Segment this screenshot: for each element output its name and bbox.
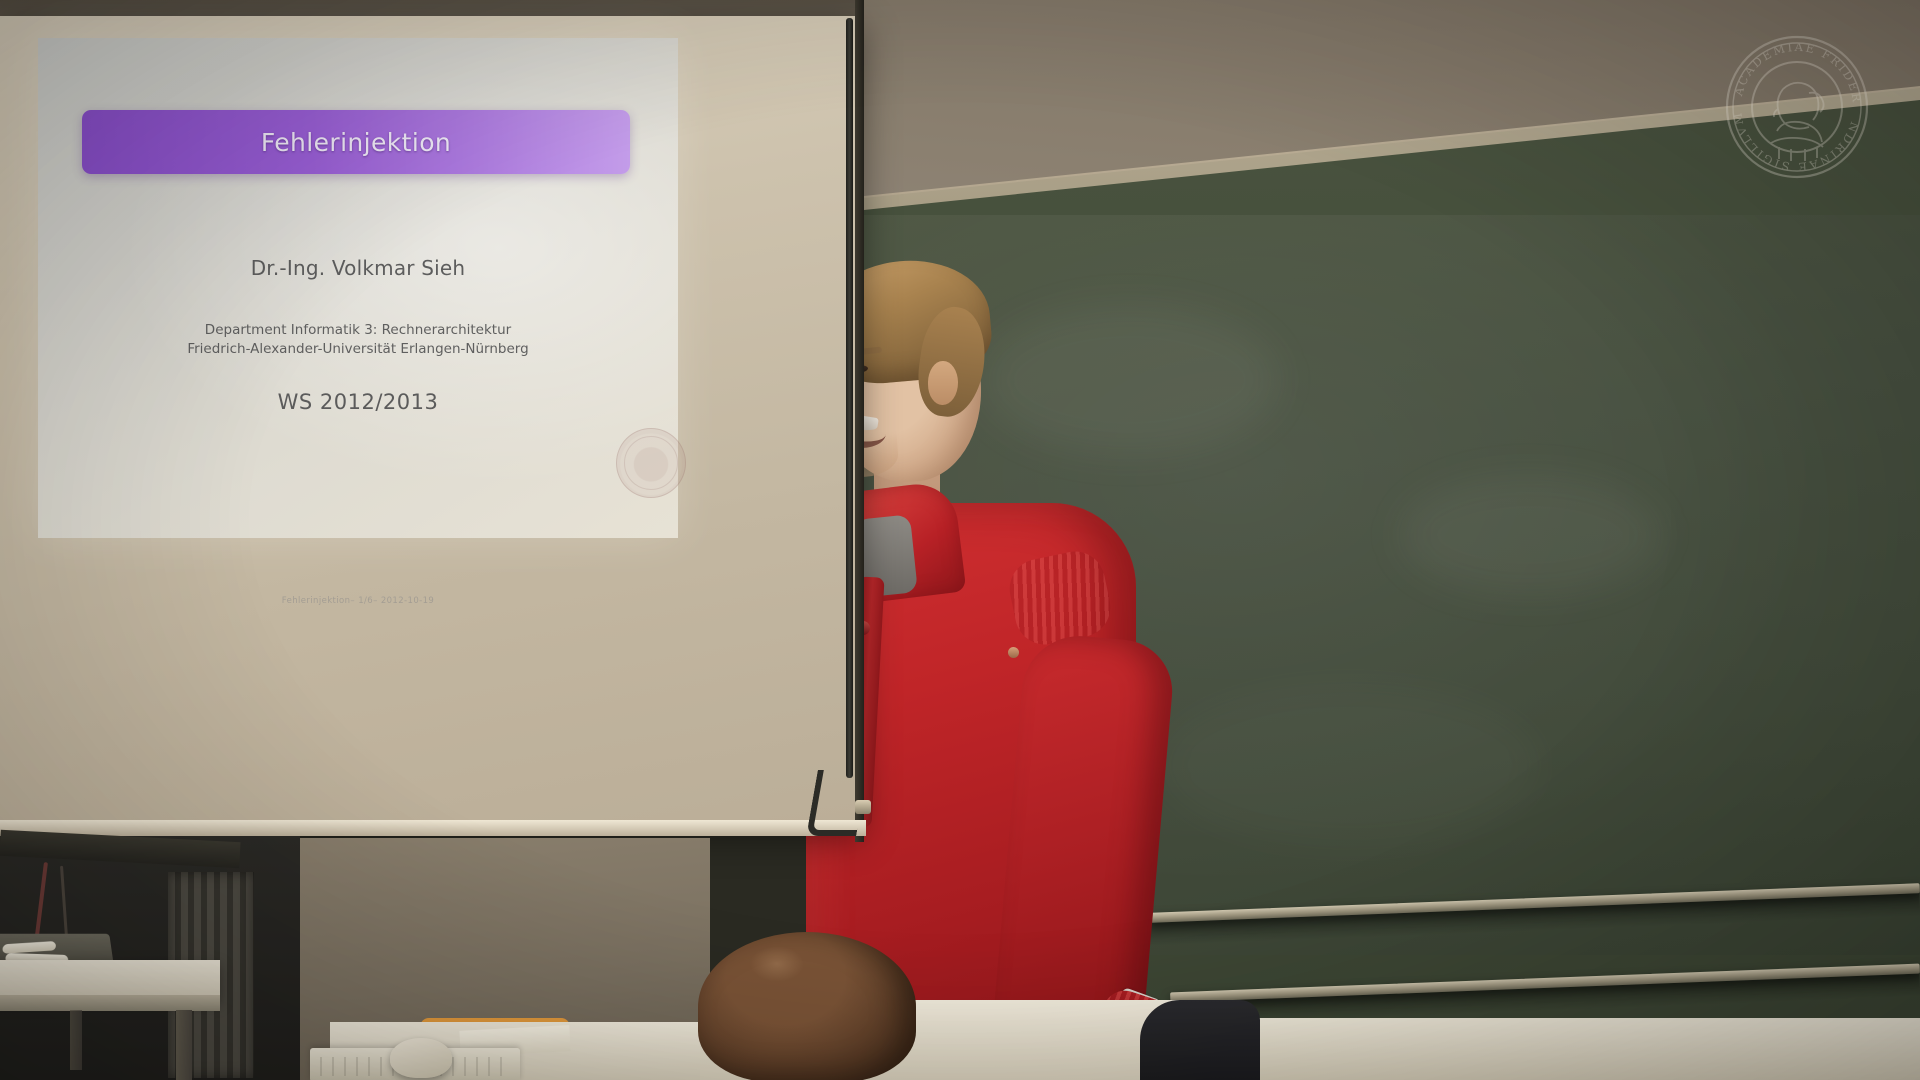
side-desk-edge bbox=[0, 995, 220, 1011]
slide-title-bar: Fehlerinjektion bbox=[82, 110, 630, 174]
slide-footer: Fehlerinjektion– 1/6– 2012-10-19 bbox=[38, 596, 678, 606]
side-desk-top bbox=[0, 960, 220, 1000]
lecture-recording-frame: ACADEMIAE FRIDERICO ALEXA NDRINAE SIGILL… bbox=[0, 0, 1920, 1080]
slide-affiliation-line-2: Friedrich-Alexander-Universität Erlangen… bbox=[38, 340, 678, 359]
screen-crank-rod bbox=[846, 18, 853, 778]
university-seal-watermark bbox=[616, 428, 686, 498]
slide-title: Fehlerinjektion bbox=[261, 128, 451, 157]
slide-author: Dr.-Ing. Volkmar Sieh bbox=[38, 256, 678, 280]
svg-text:NDRINAE SIGILLVM: NDRINAE SIGILLVM bbox=[1730, 110, 1862, 174]
jacket-snap-button bbox=[1008, 647, 1019, 658]
projection-screen-bottom-bar bbox=[0, 820, 866, 836]
student-head-foreground bbox=[698, 932, 916, 1080]
chalk-stick bbox=[2, 941, 56, 954]
computer-mouse[interactable] bbox=[390, 1038, 452, 1078]
projection-screen-right-edge bbox=[855, 0, 864, 842]
screen-crank-knob[interactable] bbox=[855, 800, 871, 814]
lecture-desk-right bbox=[1180, 1018, 1920, 1080]
fau-seal-watermark: ACADEMIAE FRIDERICO ALEXA NDRINAE SIGILL… bbox=[1721, 31, 1873, 183]
desk-leg bbox=[176, 1010, 192, 1080]
svg-text:ACADEMIAE FRIDERICO ALEXA: ACADEMIAE FRIDERICO ALEXA bbox=[1721, 31, 1864, 105]
ear bbox=[928, 361, 958, 405]
projected-slide: Fehlerinjektion Dr.-Ing. Volkmar Sieh De… bbox=[38, 38, 678, 538]
student-shoulder-foreground bbox=[1140, 1000, 1260, 1080]
slide-affiliation-line-1: Department Informatik 3: Rechnerarchitek… bbox=[38, 321, 678, 340]
slide-affiliation: Department Informatik 3: Rechnerarchitek… bbox=[38, 321, 678, 359]
slide-term: WS 2012/2013 bbox=[38, 390, 678, 414]
desk-leg bbox=[70, 1010, 82, 1070]
